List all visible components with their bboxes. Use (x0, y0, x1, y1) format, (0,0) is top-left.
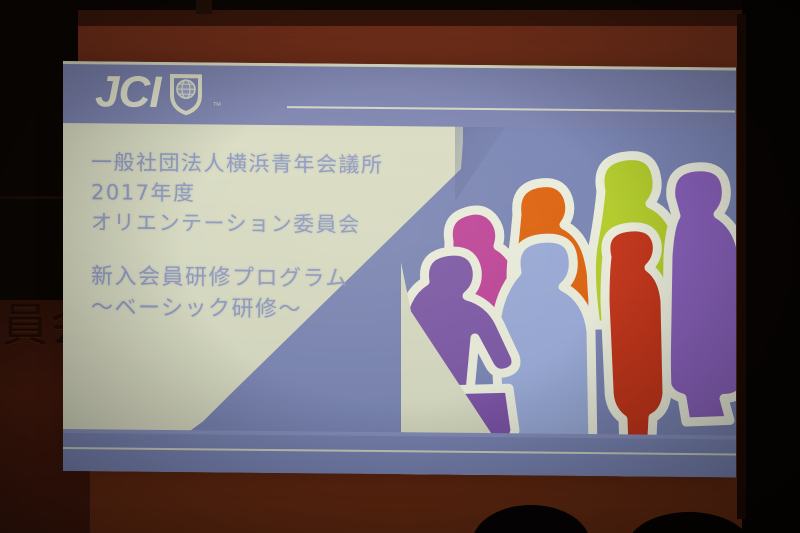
wall-top-nub (196, 0, 212, 14)
group-of-people-silhouettes (401, 123, 736, 477)
title-line-3: オリエンテーション委員会 (91, 207, 384, 240)
projected-slide: JCI ™ 一般社団法人横浜青年会議所 (63, 61, 736, 477)
title-line-2: 2017年度 (91, 177, 384, 210)
figure-purple-standing-right (666, 166, 736, 422)
wall-top-trim (55, 10, 760, 26)
trademark-symbol: ™ (212, 100, 222, 110)
screen-right-edge-pole (737, 14, 746, 519)
title-line-1: 一般社団法人横浜青年会議所 (91, 147, 384, 180)
jci-wordmark: JCI (95, 70, 160, 115)
header-rule-upper (287, 106, 735, 112)
slide-footer-band (63, 433, 736, 477)
slide-title-block: 一般社団法人横浜青年会議所 2017年度 オリエンテーション委員会 (91, 147, 384, 240)
slide-canvas: JCI ™ 一般社団法人横浜青年会議所 (63, 61, 736, 477)
jci-logo: JCI ™ (95, 67, 222, 118)
jci-shield-globe-icon (168, 71, 204, 115)
subtitle-line-1: 新入会員研修プログラム (91, 261, 349, 294)
right-dark-area (742, 0, 800, 533)
footer-rule (63, 447, 736, 455)
screenshot-stage: 員会 (0, 0, 800, 533)
subtitle-line-2: ～ベーシック研修～ (91, 292, 349, 325)
slide-header-band: JCI ™ (63, 61, 736, 129)
slide-subtitle-block: 新入会員研修プログラム ～ベーシック研修～ (91, 261, 349, 325)
